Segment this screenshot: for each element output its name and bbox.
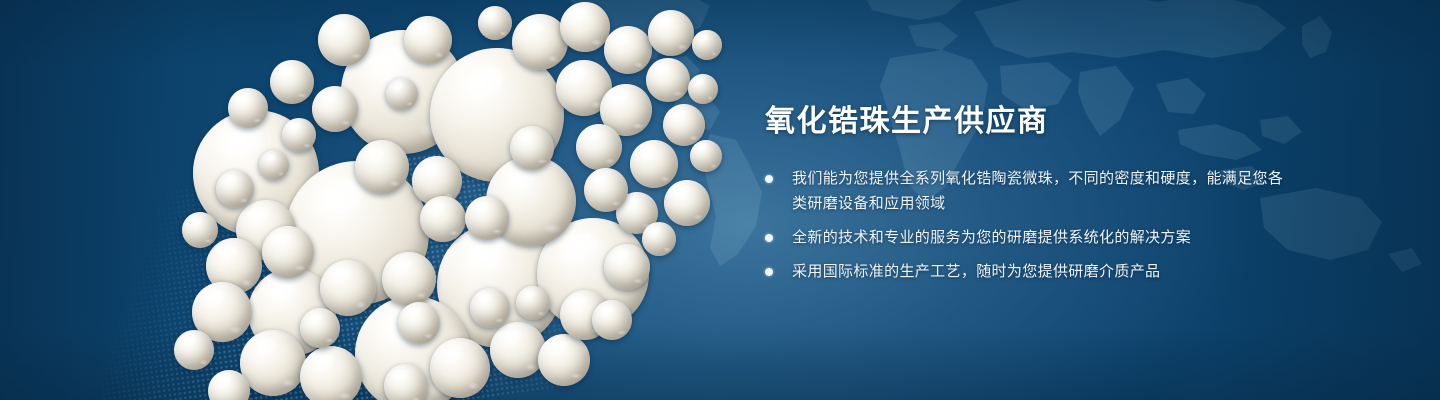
list-item: 我们能为您提供全系列氧化锆陶瓷微珠，不同的密度和硬度，能满足您各类研磨设备和应用… bbox=[765, 166, 1285, 216]
list-item-label: 我们能为您提供全系列氧化锆陶瓷微珠，不同的密度和硬度，能满足您各类研磨设备和应用… bbox=[792, 166, 1285, 216]
list-item-label: 全新的技术和专业的服务为您的研磨提供系统化的解决方案 bbox=[792, 225, 1285, 250]
list-item-label: 采用国际标准的生产工艺，随时为您提供研磨介质产品 bbox=[792, 259, 1285, 284]
bullet-dot-icon bbox=[765, 268, 773, 276]
page-title: 氧化锆珠生产供应商 bbox=[765, 104, 1285, 140]
list-item: 全新的技术和专业的服务为您的研磨提供系统化的解决方案 bbox=[765, 225, 1285, 250]
bullet-dot-icon bbox=[765, 234, 773, 242]
list-item: 采用国际标准的生产工艺，随时为您提供研磨介质产品 bbox=[765, 259, 1285, 284]
bullet-dot-icon bbox=[765, 175, 773, 183]
hero-banner: 氧化锆珠生产供应商 我们能为您提供全系列氧化锆陶瓷微珠，不同的密度和硬度，能满足… bbox=[0, 0, 1440, 400]
feature-list: 我们能为您提供全系列氧化锆陶瓷微珠，不同的密度和硬度，能满足您各类研磨设备和应用… bbox=[765, 166, 1285, 284]
banner-copy: 氧化锆珠生产供应商 我们能为您提供全系列氧化锆陶瓷微珠，不同的密度和硬度，能满足… bbox=[765, 104, 1285, 284]
